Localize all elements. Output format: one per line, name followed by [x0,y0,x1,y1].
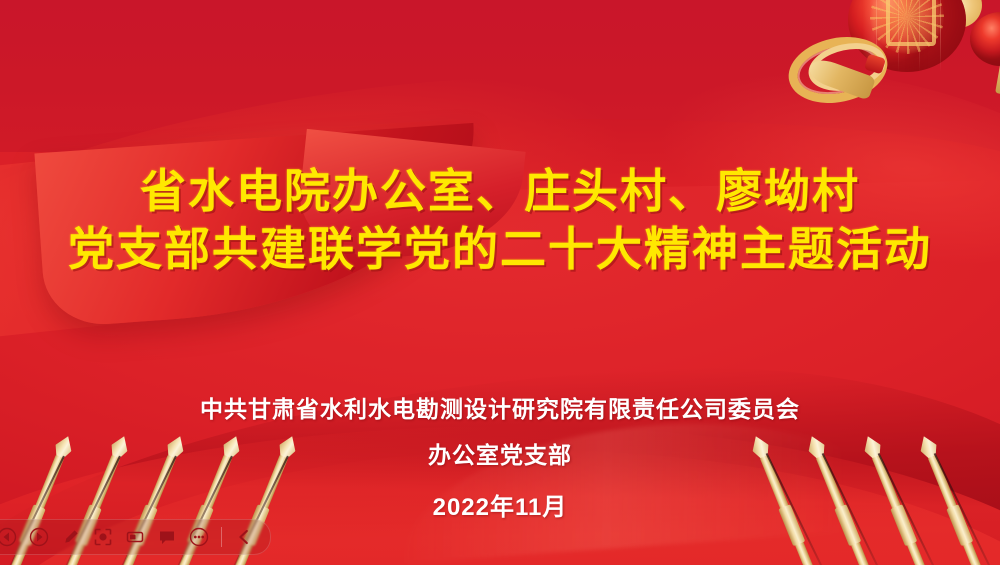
chevron-left-icon [234,527,254,547]
previous-slide-button[interactable] [0,523,21,551]
play-button[interactable] [25,523,53,551]
presentation-slide: 省水电院办公室、庄头村、廖坳村 党支部共建联学党的二十大精神主题活动 中共甘肃省… [0,0,1000,565]
comment-button[interactable] [153,523,181,551]
title-line-1: 省水电院办公室、庄头村、廖坳村 [0,162,1000,220]
subtitle-line-1: 中共甘肃省水利水电勘测设计研究院有限责任公司委员会 [0,386,1000,432]
play-icon [29,527,49,547]
toolbar-separator [221,527,222,547]
slide-date: 2022年11月 [0,487,1000,522]
presentation-toolbar[interactable] [0,519,271,555]
comment-icon [157,527,177,547]
previous-slide-icon [0,527,17,547]
slide-subtitle: 中共甘肃省水利水电勘测设计研究院有限责任公司委员会 办公室党支部 [0,386,1000,478]
more-options-button[interactable] [185,523,213,551]
title-line-2: 党支部共建联学党的二十大精神主题活动 [0,220,1000,278]
pen-icon [61,527,81,547]
eraser-icon [125,527,145,547]
slide-title: 省水电院办公室、庄头村、廖坳村 党支部共建联学党的二十大精神主题活动 [0,162,1000,278]
laser-pointer-button[interactable] [89,523,117,551]
more-options-icon [189,527,209,547]
laser-pointer-icon [93,527,113,547]
subtitle-line-2: 办公室党支部 [0,432,1000,478]
eraser-button[interactable] [121,523,149,551]
collapse-toolbar-button[interactable] [230,523,258,551]
pen-button[interactable] [57,523,85,551]
chinese-lantern-decoration [816,0,1000,125]
